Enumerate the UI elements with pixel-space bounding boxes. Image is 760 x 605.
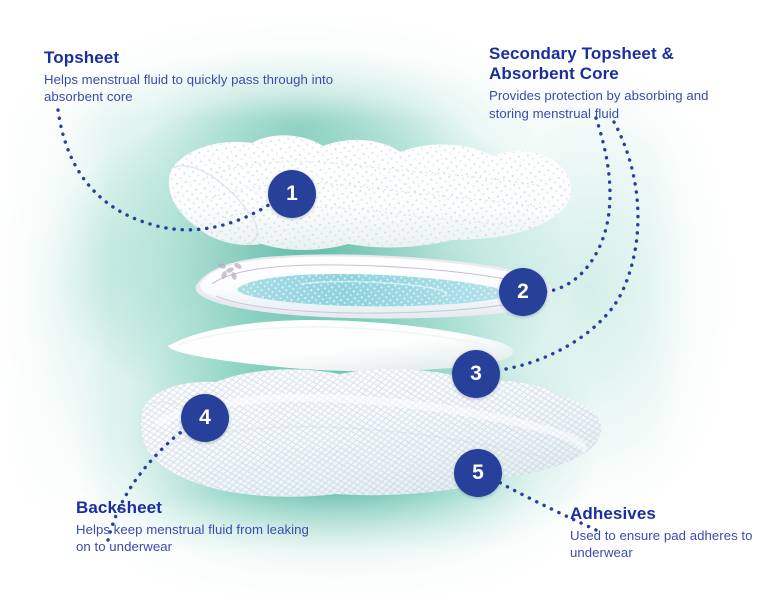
badge-3[interactable]: 3 bbox=[452, 350, 500, 398]
layer-topsheet bbox=[169, 135, 571, 250]
label-topsheet: Topsheet Helps menstrual fluid to quickl… bbox=[44, 48, 364, 106]
badge-4[interactable]: 4 bbox=[181, 394, 229, 442]
label-adhesives-body: Used to ensure pad adheres to underwear bbox=[570, 527, 760, 562]
label-topsheet-heading: Topsheet bbox=[44, 48, 364, 68]
label-backsheet: Backsheet Helps keep menstrual fluid fro… bbox=[76, 498, 316, 556]
label-absorbent-core-heading: Secondary Topsheet & Absorbent Core bbox=[489, 44, 719, 84]
label-backsheet-body: Helps keep menstrual fluid from leaking … bbox=[76, 521, 316, 556]
label-topsheet-body: Helps menstrual fluid to quickly pass th… bbox=[44, 71, 364, 106]
label-absorbent-core: Secondary Topsheet & Absorbent Core Prov… bbox=[489, 44, 719, 122]
badge-5[interactable]: 5 bbox=[454, 449, 502, 497]
label-adhesives-heading: Adhesives bbox=[570, 504, 760, 524]
badge-1[interactable]: 1 bbox=[268, 170, 316, 218]
label-absorbent-core-body: Provides protection by absorbing and sto… bbox=[489, 87, 719, 122]
badge-2[interactable]: 2 bbox=[499, 268, 547, 316]
diagram-canvas: Topsheet Helps menstrual fluid to quickl… bbox=[0, 0, 760, 605]
label-adhesives: Adhesives Used to ensure pad adheres to … bbox=[570, 504, 760, 562]
label-backsheet-heading: Backsheet bbox=[76, 498, 316, 518]
